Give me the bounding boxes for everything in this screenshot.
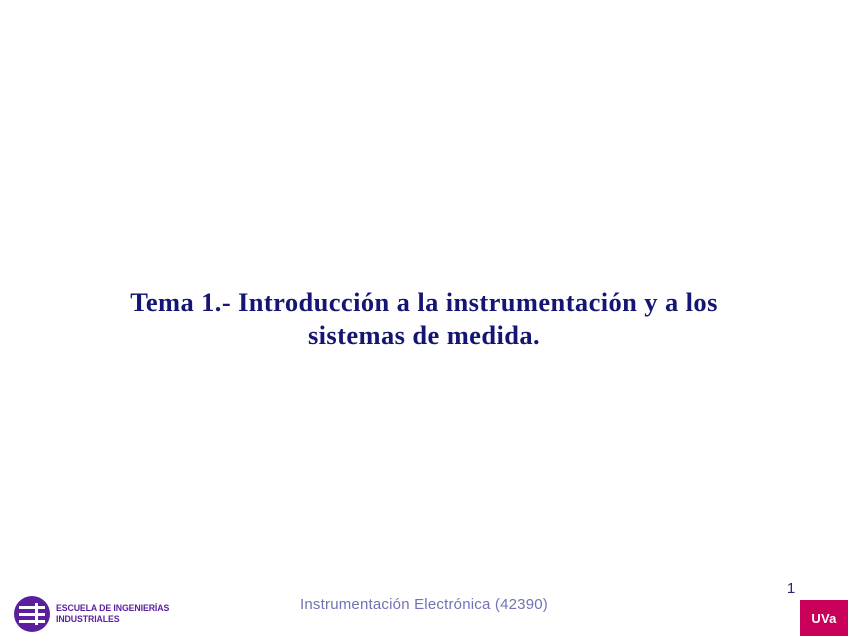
school-logo-line-2: INDUSTRIALES [56, 614, 169, 626]
slide-title-line-2: sistemas de medida. [60, 319, 788, 352]
slide-title-line-1: Tema 1.- Introducción a la instrumentaci… [60, 286, 788, 319]
slide-footer: ESCUELA DE INGENIERÍAS INDUSTRIALES Inst… [0, 570, 848, 636]
slide-title: Tema 1.- Introducción a la instrumentaci… [60, 286, 788, 352]
footer-course-caption: Instrumentación Electrónica (42390) [0, 596, 848, 613]
university-logo-label: UVa [811, 611, 836, 626]
university-logo: UVa [800, 600, 848, 636]
eii-bar-middle [19, 613, 45, 617]
eii-bar-bottom [19, 620, 45, 624]
presentation-slide: Tema 1.- Introducción a la instrumentaci… [0, 0, 848, 636]
slide-page-number: 1 [782, 580, 800, 597]
